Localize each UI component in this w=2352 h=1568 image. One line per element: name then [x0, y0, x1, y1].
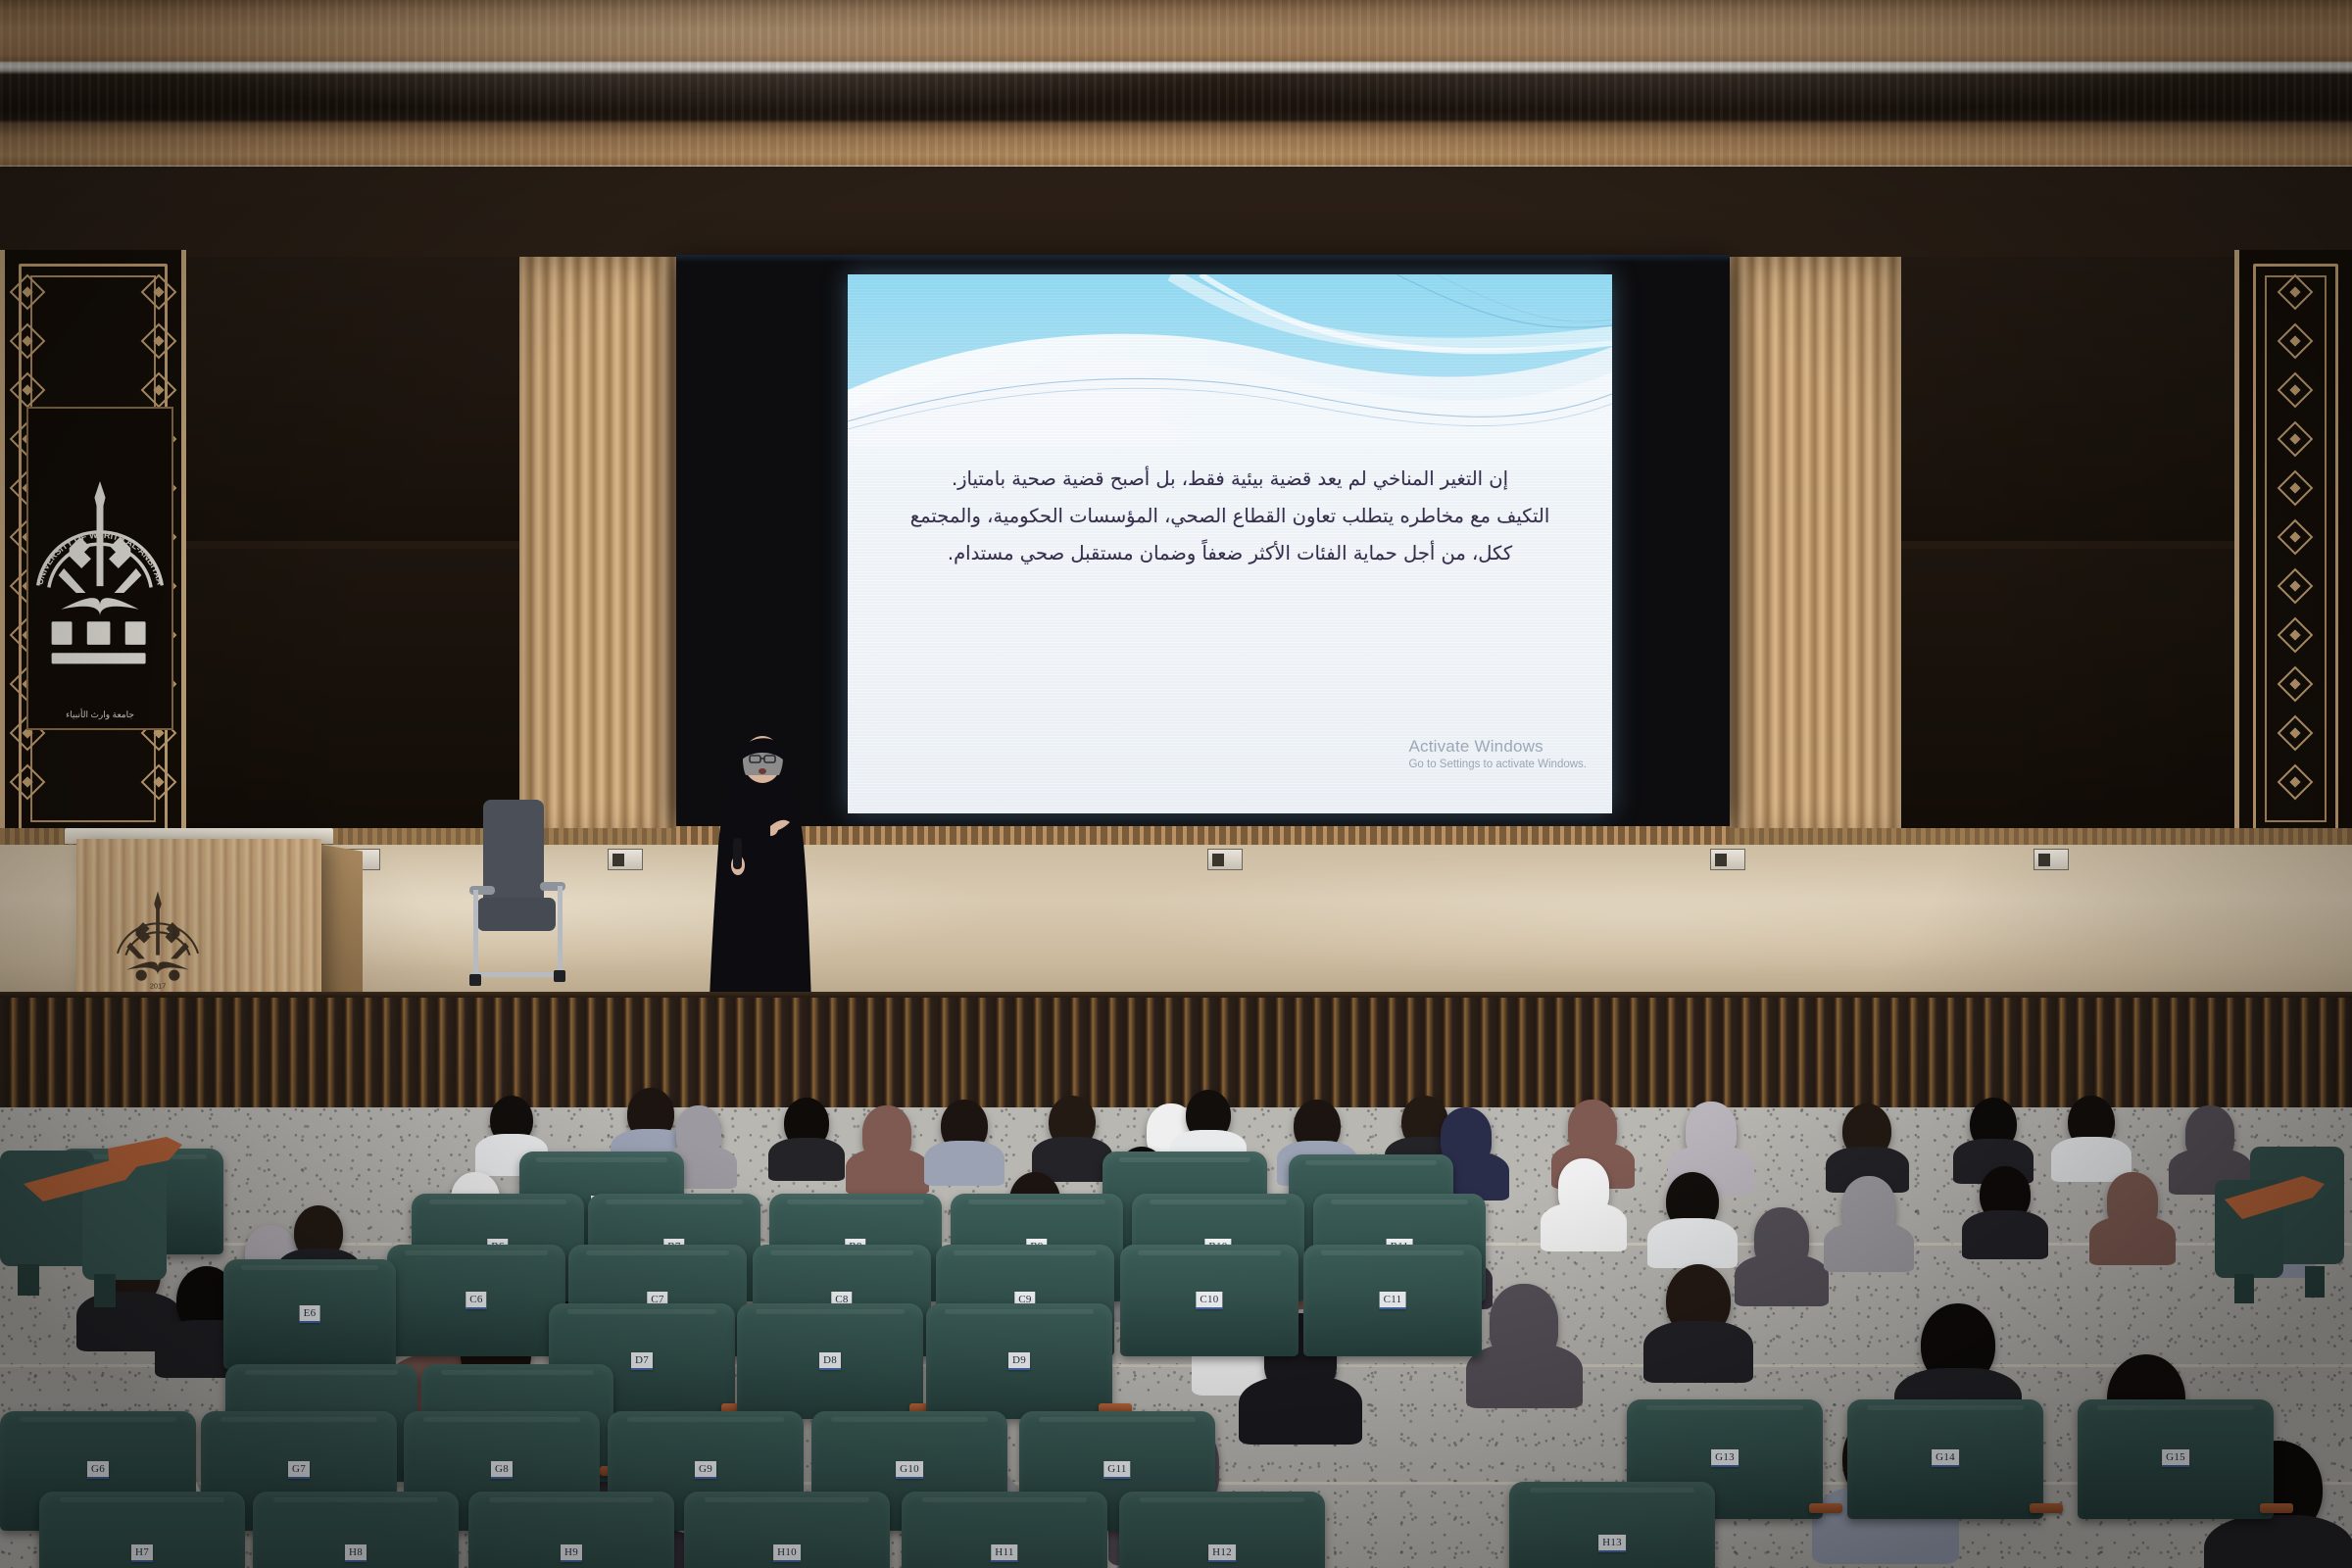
audience-member-shoulders: [1824, 1222, 1914, 1272]
ornament-diamond: [2278, 568, 2314, 605]
ornament-diamond: [2278, 274, 2314, 311]
auditorium-seat[interactable]: D8: [737, 1303, 923, 1419]
audience-member-shoulders: [1647, 1218, 1738, 1268]
seat-number-tag: H8: [345, 1544, 367, 1562]
auditorium-seat[interactable]: H11: [902, 1492, 1107, 1568]
seat-number-tag: E6: [300, 1305, 320, 1323]
ornament-diamond: [2278, 421, 2314, 458]
seat-armrest: [1809, 1503, 1842, 1513]
audience-member-shoulders: [2204, 1515, 2352, 1568]
auditorium-seat[interactable]: E6: [223, 1259, 396, 1369]
seat-number-tag: D7: [631, 1352, 653, 1370]
wall-outlet-center[interactable]: [1207, 849, 1243, 870]
audience-member-shoulders: [768, 1138, 845, 1181]
auditorium-seat[interactable]: H12: [1119, 1492, 1325, 1568]
seat-number-tag: G11: [1103, 1461, 1130, 1479]
audience-member-shoulders: [1962, 1210, 2048, 1258]
ornament-diamond-column: [2278, 279, 2312, 818]
wall-slat-wood-right: [1725, 257, 1901, 845]
wall-dark-panel-left-upper: [186, 257, 524, 541]
ornament-diamond: [141, 372, 177, 409]
seat-number-tag: C10: [1196, 1292, 1222, 1309]
auditorium-seat[interactable]: C11: [1303, 1245, 1482, 1356]
ornament-diamond: [10, 323, 46, 360]
presentation-slide[interactable]: إن التغير المناخي لم يعد قضية بيئية فقط،…: [848, 274, 1612, 813]
podium-logo-year: 2017: [150, 981, 167, 990]
seat-number-tag: G13: [1711, 1449, 1739, 1467]
seat-number-tag: H7: [131, 1544, 153, 1562]
aisle-chair-right[interactable]: [2195, 1137, 2352, 1323]
seat-number-tag: H9: [561, 1544, 582, 1562]
ornament-diamond: [2278, 323, 2314, 360]
auditorium-seat[interactable]: C6: [387, 1245, 565, 1356]
seat-number-tag: G10: [896, 1461, 923, 1479]
seat-number-tag: C11: [1380, 1292, 1406, 1309]
stage-riser-front: [0, 998, 2352, 1107]
ornament-diamond: [10, 372, 46, 409]
seat-number-tag: G8: [491, 1461, 513, 1479]
watermark-subtitle: Go to Settings to activate Windows.: [1408, 759, 1587, 770]
seat-armrest: [2260, 1503, 2293, 1513]
audience-member-shoulders: [2089, 1216, 2176, 1264]
seat-number-tag: H11: [991, 1544, 1017, 1562]
seat-number-tag: C6: [465, 1292, 486, 1309]
audience-member-shoulders: [1466, 1344, 1583, 1408]
ornament-diamond: [141, 764, 177, 801]
audience-member-shoulders: [1643, 1321, 1753, 1383]
audience-member-shoulders: [924, 1141, 1004, 1186]
seat-number-tag: H10: [773, 1544, 801, 1562]
ornament-panel-left: W UNIVERSITY OF WARITH AL-ANBIYAA جامعة …: [0, 250, 186, 848]
seat-number-tag: D8: [819, 1352, 841, 1370]
audience-member-shoulders: [1735, 1254, 1828, 1306]
windows-activation-watermark: Activate Windows Go to Settings to activ…: [1408, 737, 1587, 770]
wall-dark-panel-right-upper: [1896, 257, 2234, 541]
podium-university-logo-icon: 2017: [103, 882, 213, 992]
seat-armrest: [2030, 1503, 2063, 1513]
auditorium-seat[interactable]: H10: [684, 1492, 890, 1568]
ornament-panel-right: [2234, 250, 2352, 848]
wall-slat-wood-left: [519, 257, 681, 845]
slide-body-text: إن التغير المناخي لم يعد قضية بيئية فقط،…: [903, 461, 1557, 572]
ornament-diamond: [2278, 470, 2314, 507]
audience-member-shoulders: [1541, 1202, 1627, 1250]
slide-line-2: التكيف مع مخاطره يتطلب تعاون القطاع الصح…: [903, 498, 1557, 535]
seat-number-tag: G14: [1932, 1449, 1959, 1467]
podium-side-panel: [321, 845, 363, 1008]
seat-number-tag: G15: [2162, 1449, 2189, 1467]
university-emblem-icon: W UNIVERSITY OF WARITH AL-ANBIYAA: [28, 421, 171, 715]
wall-outlet-left-2[interactable]: [608, 849, 643, 870]
emblem-caption-text: جامعة وارث الأنبياء: [28, 710, 171, 720]
slide-wave-graphic: [848, 274, 1612, 470]
ornament-diamond: [2278, 372, 2314, 409]
ornament-diamond: [2278, 666, 2314, 703]
wall-outlet-right-2[interactable]: [2033, 849, 2069, 870]
auditorium-seat[interactable]: H9: [468, 1492, 674, 1568]
aisle-chair-left[interactable]: [0, 1137, 206, 1323]
ornament-diamond: [10, 764, 46, 801]
ornament-diamond: [2278, 617, 2314, 654]
wall-outlet-right[interactable]: [1710, 849, 1745, 870]
audience-member-shoulders: [1239, 1376, 1362, 1445]
wall-dark-panel-right-lower: [1896, 549, 2234, 843]
ornament-diamond: [141, 274, 177, 311]
auditorium-scene: W UNIVERSITY OF WARITH AL-ANBIYAA جامعة …: [0, 0, 2352, 1568]
slide-line-1: إن التغير المناخي لم يعد قضية بيئية فقط،…: [903, 461, 1557, 498]
auditorium-seat[interactable]: G14: [1847, 1399, 2043, 1519]
ornament-diamond: [10, 274, 46, 311]
watermark-title: Activate Windows: [1408, 737, 1587, 757]
seat-number-tag: G6: [87, 1461, 109, 1479]
ornament-diamond: [2278, 715, 2314, 752]
auditorium-seat[interactable]: H13: [1509, 1482, 1715, 1568]
seat-number-tag: G7: [288, 1461, 310, 1479]
seat-number-tag: G9: [695, 1461, 716, 1479]
ceiling-wood-panels: [0, 0, 2352, 171]
audience-member-shoulders: [846, 1149, 929, 1196]
seat-number-tag: D9: [1008, 1352, 1030, 1370]
auditorium-seat[interactable]: G15: [2078, 1399, 2274, 1519]
seat-number-tag: H12: [1208, 1544, 1236, 1562]
university-emblem-plaque: W UNIVERSITY OF WARITH AL-ANBIYAA جامعة …: [26, 407, 173, 730]
auditorium-seat[interactable]: H7: [39, 1492, 245, 1568]
ornament-diamond: [141, 323, 177, 360]
auditorium-seat[interactable]: H8: [253, 1492, 459, 1568]
ornament-diamond: [2278, 764, 2314, 801]
stage-chair[interactable]: [456, 796, 583, 1011]
auditorium-seat[interactable]: C10: [1120, 1245, 1298, 1356]
speaker-presenter: [686, 720, 843, 1014]
seat-number-tag: H13: [1598, 1535, 1626, 1552]
auditorium-seat[interactable]: D9: [926, 1303, 1112, 1419]
ornament-diamond: [2278, 519, 2314, 556]
slide-line-3: ككل، من أجل حماية الفئات الأكثر ضعفاً وض…: [903, 535, 1557, 572]
